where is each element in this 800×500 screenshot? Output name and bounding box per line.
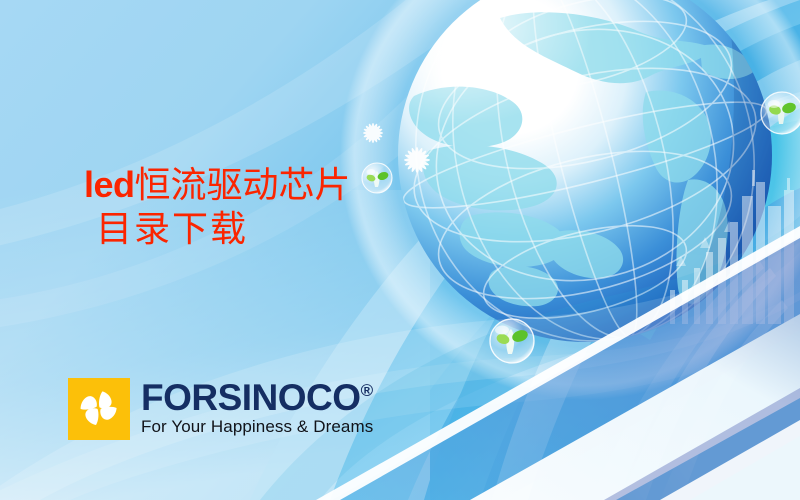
headline-cjk: 恒流驱动芯片 [135,165,351,205]
logo-mark [68,378,130,440]
headline-line-2: 目录下载 [84,208,351,252]
bubble-sprout-right [761,92,800,134]
company-logo: FORSINOCO® For Your Happiness & Dreams [68,378,373,440]
logo-text-block: FORSINOCO® For Your Happiness & Dreams [141,378,373,437]
registered-trademark-icon: ® [361,381,374,400]
headline-line-1: led恒流驱动芯片 [84,163,351,208]
bubble-sprout-small [362,163,392,193]
logo-wordmark: FORSINOCO® [141,380,373,416]
sparkle-lower [404,147,430,173]
headline-latin: led [84,164,135,205]
headline-text: led恒流驱动芯片 目录下载 [84,163,351,252]
promotional-banner: led恒流驱动芯片 目录下载 FORSINOCO® For Your Happi… [0,0,800,500]
logo-wordmark-text: FORSINOCO [141,377,361,418]
pinwheel-flower-icon [68,378,130,440]
logo-tagline: For Your Happiness & Dreams [141,417,373,437]
sparkle-upper [363,123,383,143]
bubble-sprout-center [490,319,534,363]
